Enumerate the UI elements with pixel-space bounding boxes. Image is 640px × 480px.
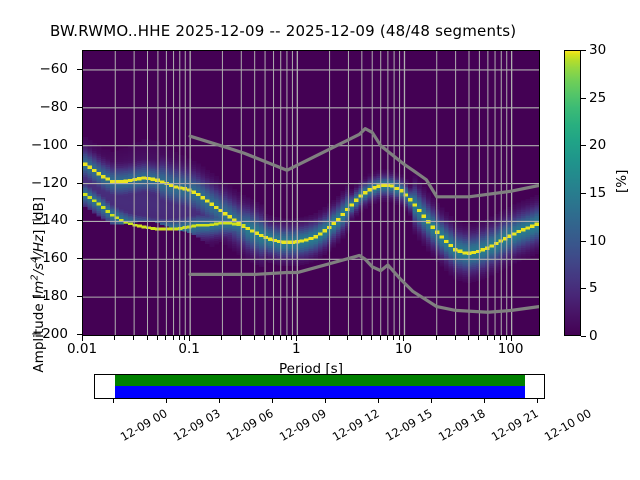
colorbar-tick-label: 10	[589, 233, 606, 249]
x-tick	[273, 336, 274, 340]
y-tick	[77, 220, 82, 221]
y-tick-label: −100	[31, 137, 68, 153]
colorbar-tick-label: 20	[589, 137, 606, 153]
x-tick	[133, 336, 134, 340]
x-tick	[494, 336, 495, 340]
colorbar-tick	[581, 50, 586, 51]
timeline-tick	[325, 399, 326, 403]
y-axis-title-suffix: ] [dB]	[31, 197, 47, 235]
x-tick	[157, 336, 158, 340]
y-tick-label: −60	[40, 61, 69, 77]
x-tick	[114, 336, 115, 340]
colorbar-tick	[581, 98, 586, 99]
x-tick	[399, 336, 400, 340]
x-tick	[291, 336, 292, 340]
x-tick	[147, 336, 148, 340]
y-tick	[77, 183, 82, 184]
x-tick	[506, 336, 507, 340]
timeline-tick-label: 12-09 03	[171, 406, 223, 444]
timeline-tick-label: 12-10 00	[542, 406, 594, 444]
colorbar-title: [%]	[614, 170, 630, 193]
timeline-tick-label: 12-09 15	[383, 406, 435, 444]
x-tick	[254, 336, 255, 340]
x-tick	[240, 336, 241, 340]
timeline-tick-label: 12-09 09	[277, 406, 329, 444]
x-tick	[361, 336, 362, 340]
timeline-tick-label: 12-09 21	[489, 406, 541, 444]
colorbar-tick-label: 25	[589, 90, 606, 106]
colorbar-tick	[581, 288, 586, 289]
timeline-tick	[378, 399, 379, 403]
data-coverage-timeline[interactable]	[94, 374, 545, 399]
x-tick-label: 10	[395, 341, 412, 357]
figure-title: BW.RWMO..HHE 2025-12-09 -- 2025-12-09 (4…	[50, 22, 516, 40]
colorbar-tick-label: 5	[589, 280, 598, 296]
y-axis-unit-s: /s	[31, 263, 47, 275]
timeline-tick	[431, 399, 432, 403]
x-tick	[387, 336, 388, 340]
x-tick	[286, 336, 287, 340]
timeline-tick	[219, 399, 220, 403]
y-axis-unit-m: m	[31, 281, 47, 294]
y-axis-unit-exp2: 4	[29, 257, 40, 263]
timeline-tick	[484, 399, 485, 403]
timeline-tick	[272, 399, 273, 403]
y-axis-title: Amplitude [m2/s4/Hz] [dB]	[29, 175, 47, 395]
x-tick	[478, 336, 479, 340]
timeline-tick	[537, 399, 538, 403]
y-tick	[77, 258, 82, 259]
x-tick	[371, 336, 372, 340]
x-tick	[436, 336, 437, 340]
colorbar-tick-label: 15	[589, 185, 606, 201]
x-tick	[264, 336, 265, 340]
x-tick-label: 0.1	[178, 341, 199, 357]
y-axis-title-wrapper: Amplitude [m2/s4/Hz] [dB]	[14, 83, 34, 303]
y-tick	[77, 69, 82, 70]
timeline-used-bar	[115, 386, 525, 398]
x-tick	[468, 336, 469, 340]
x-tick-label: 100	[498, 341, 524, 357]
timeline-tick-label: 12-09 18	[436, 406, 488, 444]
x-tick-label: 1	[292, 341, 301, 357]
colorbar-tick	[581, 145, 586, 146]
colorbar-tick	[581, 241, 586, 242]
y-tick	[77, 334, 82, 335]
ppsd-canvas	[83, 51, 539, 335]
x-tick	[329, 336, 330, 340]
x-tick	[184, 336, 185, 340]
x-tick	[165, 336, 166, 340]
x-tick	[380, 336, 381, 340]
timeline-tick-label: 12-09 00	[118, 406, 170, 444]
timeline-data-bar	[115, 375, 525, 386]
ppsd-plot-area[interactable]	[82, 50, 540, 336]
y-axis-unit-exp1: 2	[29, 274, 40, 280]
y-tick	[77, 145, 82, 146]
colorbar-tick	[581, 336, 586, 337]
x-tick	[173, 336, 174, 340]
y-tick	[77, 107, 82, 108]
timeline-tick-label: 12-09 06	[224, 406, 276, 444]
colorbar-tick	[581, 193, 586, 194]
timeline-tick	[166, 399, 167, 403]
y-axis-unit-hz: /Hz	[31, 235, 47, 257]
y-axis-title-prefix: Amplitude [	[31, 294, 47, 373]
colorbar-tick-label: 30	[589, 42, 606, 58]
x-tick	[393, 336, 394, 340]
x-tick	[179, 336, 180, 340]
timeline-tick	[113, 399, 114, 403]
x-tick	[500, 336, 501, 340]
y-tick-label: −80	[40, 99, 69, 115]
colorbar[interactable]	[564, 50, 581, 336]
colorbar-tick-label: 0	[589, 328, 598, 344]
x-tick	[347, 336, 348, 340]
y-tick	[77, 296, 82, 297]
x-tick	[280, 336, 281, 340]
timeline-tick-label: 12-09 12	[330, 406, 382, 444]
x-tick	[455, 336, 456, 340]
x-tick-label: 0.01	[67, 341, 97, 357]
x-tick	[221, 336, 222, 340]
ppsd-figure: BW.RWMO..HHE 2025-12-09 -- 2025-12-09 (4…	[0, 0, 640, 480]
x-tick	[487, 336, 488, 340]
